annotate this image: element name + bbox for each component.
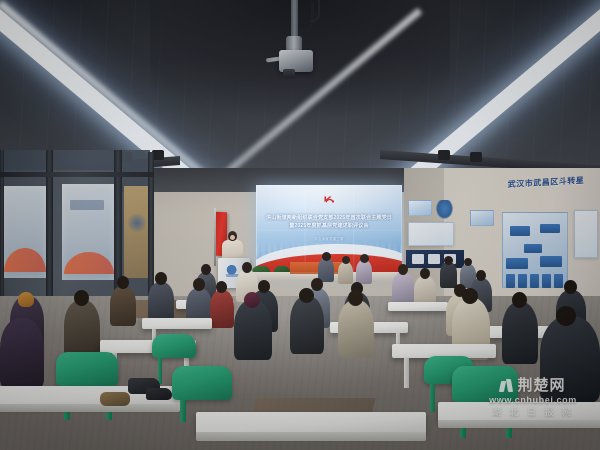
presenter-face — [230, 235, 235, 240]
attendee-c2 — [148, 282, 174, 322]
desk-d-right-leg1 — [404, 358, 409, 388]
attendee-d5-head — [348, 290, 363, 306]
wall-display-card-2 — [428, 254, 440, 264]
infographic-column-5 — [554, 274, 563, 288]
watermark-brand: 荆楚网 — [517, 378, 565, 394]
track-spot-can-3 — [438, 150, 450, 160]
glass-transom — [0, 172, 154, 177]
desk-c-left — [142, 318, 212, 329]
attendee-a2-head — [342, 256, 350, 264]
infographic-chip-3 — [524, 244, 542, 253]
wall-notice-board-right — [574, 210, 598, 258]
infographic-chip-2 — [540, 224, 560, 233]
attendee-c5-head — [258, 280, 270, 293]
attendee-b3-head — [398, 264, 408, 275]
watermark-brand-row: 荆楚网 — [474, 378, 592, 394]
attendee-front-left — [0, 318, 44, 388]
attendee-d4-head — [299, 288, 314, 303]
attendee-a4-head — [444, 256, 453, 265]
wall-panel-small-left — [408, 200, 432, 216]
infographic-column-4 — [542, 274, 551, 288]
chair-front-left — [56, 352, 118, 386]
desk-foreground-center — [196, 412, 426, 434]
infographic-column-3 — [530, 274, 539, 288]
attendee-a3-head — [360, 254, 369, 263]
attendee-d7 — [502, 302, 538, 364]
party-fist-logo — [436, 200, 453, 219]
attendee-d4 — [290, 296, 324, 354]
attendee-a4 — [440, 262, 457, 288]
desk-foreground-right-edge — [438, 420, 600, 428]
chair-foreground-mid — [172, 366, 232, 400]
attendee-b4-head — [420, 268, 430, 279]
track-spot-can-4 — [470, 152, 482, 162]
wall-info-board-left — [408, 222, 454, 246]
attendee-c6-head — [311, 278, 323, 291]
watermark-subbrand: 湖 北 日 报 网 — [474, 406, 592, 418]
infographic-chip-5 — [540, 256, 562, 267]
attendee-c2-head — [155, 272, 167, 285]
attendee-c9-head — [564, 280, 577, 294]
wall-panel-mid — [470, 210, 494, 226]
attendee-c1-head — [117, 276, 129, 289]
desk-foreground-left-edge — [0, 404, 180, 412]
watermark: 荆楚网 www.cnhubei.com 湖 北 日 报 网 — [474, 378, 592, 418]
shoe-on-floor-1 — [146, 388, 172, 400]
attendee-d3 — [234, 300, 272, 360]
attendee-a2 — [338, 262, 353, 284]
photo-scene: 洪山街道两新组织联合党支部2026年首次联合主题党日 暨2025年度抓基层党建述… — [0, 0, 600, 450]
attendee-d1-hat — [18, 292, 34, 307]
attendee-c3-head — [193, 278, 205, 291]
infographic-column-1 — [506, 274, 515, 288]
attendee-d3-hat — [244, 292, 260, 308]
boot-on-floor — [100, 392, 130, 406]
desk-foreground-center-edge — [196, 432, 426, 441]
attendee-b3 — [392, 272, 414, 304]
attendee-front-right-head — [556, 306, 576, 326]
attendee-c4 — [210, 290, 234, 328]
poster-emblem-graphic — [128, 214, 146, 234]
attendee-b5-head — [476, 270, 486, 281]
attendee-c4-head — [216, 281, 227, 293]
attendee-d5 — [338, 300, 374, 358]
infographic-chip-1 — [510, 226, 530, 236]
attendee-d2-head — [74, 290, 89, 306]
desk-b-right — [388, 302, 448, 311]
attendee-d7-head — [512, 292, 527, 308]
chair-d-1-leg — [158, 358, 162, 384]
projector-lens — [283, 69, 295, 78]
attendee-a1-head — [322, 252, 331, 261]
infographic-column-2 — [518, 274, 527, 288]
chair-d-1 — [152, 334, 196, 358]
attendee-c1 — [110, 286, 136, 326]
attendee-a3 — [356, 260, 372, 284]
chair-foreground-mid-leg — [180, 400, 186, 422]
cnhubei-logo-icon — [500, 379, 514, 393]
attendee-d6-head — [462, 288, 478, 304]
infographic-chip-4 — [506, 258, 528, 269]
attendee-a5-head — [464, 258, 472, 266]
attendee-b2-head — [242, 262, 252, 273]
watermark-url: www.cnhubei.com — [474, 394, 592, 406]
chair-d-2-leg — [430, 384, 435, 412]
attendee-b1-head — [201, 264, 211, 275]
wall-display-card-1 — [412, 254, 424, 264]
poster-text-block-1 — [70, 200, 104, 210]
attendee-d2 — [64, 300, 100, 358]
